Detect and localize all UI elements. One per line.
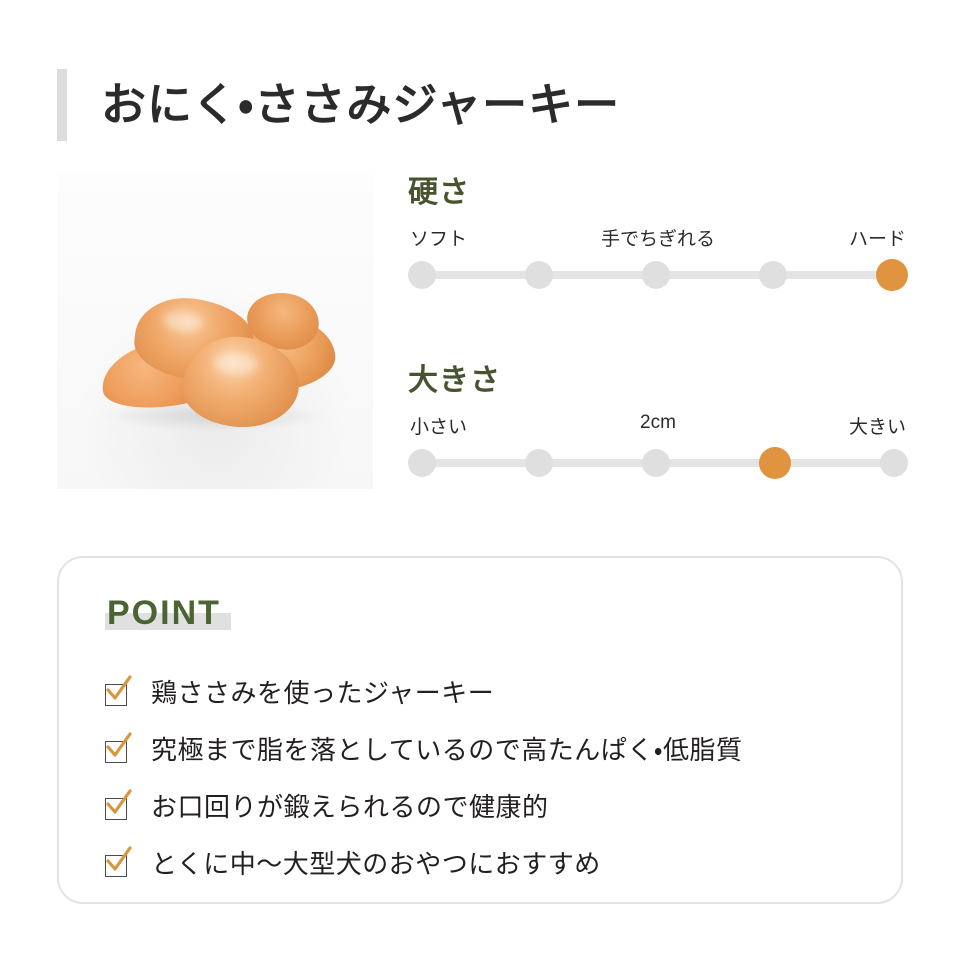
point-item-text: 鶏ささみを使ったジャーキー (151, 680, 494, 706)
point-heading: POINT (107, 594, 221, 632)
check-tick-icon (104, 674, 134, 704)
list-item: お口回りが鍛えられるので健康的 (105, 782, 875, 832)
checkmark-icon (105, 795, 129, 819)
check-tick-icon (104, 845, 134, 875)
list-item: とくに中〜大型犬のおやつにおすすめ (105, 839, 875, 889)
slider-dot-5-active[interactable] (876, 259, 908, 291)
scale-label-mid: 手でちぎれる (601, 224, 715, 251)
slider-dot-3[interactable] (642, 261, 670, 289)
spec-hardness-heading: 硬さ (408, 178, 908, 208)
point-list: 鶏ささみを使ったジャーキー 究極まで脂を落としているので高たんぱく・低脂質 お口… (105, 668, 875, 896)
slider-dots (408, 447, 908, 479)
point-heading-wrap: POINT (107, 596, 221, 630)
spec-size: 大きさ 小さい 2cm 大きい (408, 366, 908, 480)
jerky-highlight (213, 352, 258, 376)
title-accent-bar (57, 69, 67, 141)
spec-hardness: 硬さ ソフト 手でちぎれる ハード (408, 178, 908, 292)
size-slider[interactable] (408, 446, 908, 480)
scale-label-end: 大きい (849, 412, 906, 439)
spec-hardness-labels: ソフト 手でちぎれる ハード (408, 224, 908, 250)
list-item: 鶏ささみを使ったジャーキー (105, 668, 875, 718)
slider-dot-1[interactable] (408, 261, 436, 289)
scale-label-mid: 2cm (640, 412, 676, 434)
check-tick-icon (104, 731, 134, 761)
scale-label-start: 小さい (410, 412, 467, 439)
scale-label-end: ハード (849, 224, 906, 251)
slider-dot-2[interactable] (525, 261, 553, 289)
checkmark-icon (105, 681, 129, 705)
slider-dot-4-active[interactable] (759, 447, 791, 479)
page-title: おにく・ささみジャーキー (101, 82, 620, 127)
check-tick-icon (104, 788, 134, 818)
product-image-backdrop (57, 173, 373, 489)
slider-dot-5[interactable] (880, 449, 908, 477)
product-image (57, 173, 373, 489)
jerky-highlight (162, 309, 204, 334)
point-item-text: とくに中〜大型犬のおやつにおすすめ (151, 851, 601, 877)
hardness-slider[interactable] (408, 258, 908, 292)
slider-dot-2[interactable] (525, 449, 553, 477)
spec-size-labels: 小さい 2cm 大きい (408, 412, 908, 438)
slider-dot-4[interactable] (759, 261, 787, 289)
point-item-text: 究極まで脂を落としているので高たんぱく・低脂質 (151, 737, 743, 763)
spec-size-heading: 大きさ (408, 366, 908, 396)
checkmark-icon (105, 852, 129, 876)
scale-label-start: ソフト (410, 224, 467, 251)
point-item-text: お口回りが鍛えられるので健康的 (151, 794, 549, 820)
page-title-row: おにく・ささみジャーキー (57, 52, 620, 157)
slider-dot-3[interactable] (642, 449, 670, 477)
slider-dots (408, 259, 908, 291)
slider-dot-1[interactable] (408, 449, 436, 477)
point-card: POINT 鶏ささみを使ったジャーキー 究極まで脂を落としているので高たんぱく・… (57, 556, 903, 904)
checkmark-icon (105, 738, 129, 762)
list-item: 究極まで脂を落としているので高たんぱく・低脂質 (105, 725, 875, 775)
